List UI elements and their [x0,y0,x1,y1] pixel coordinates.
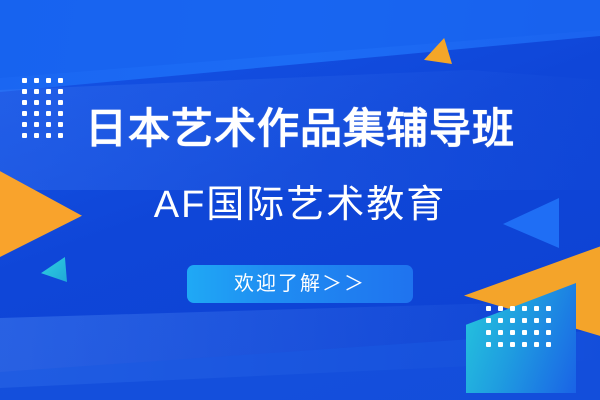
promo-banner: 日本艺术作品集辅导班 AF国际艺术教育 欢迎了解＞＞ [0,0,600,400]
cta-button[interactable]: 欢迎了解＞＞ [187,265,413,303]
page-title: 日本艺术作品集辅导班 [0,108,600,150]
banner-content: 日本艺术作品集辅导班 AF国际艺术教育 欢迎了解＞＞ [0,0,600,400]
brand-subtitle: AF国际艺术教育 [0,186,600,224]
cta-button-label: 欢迎了解＞＞ [234,274,366,294]
